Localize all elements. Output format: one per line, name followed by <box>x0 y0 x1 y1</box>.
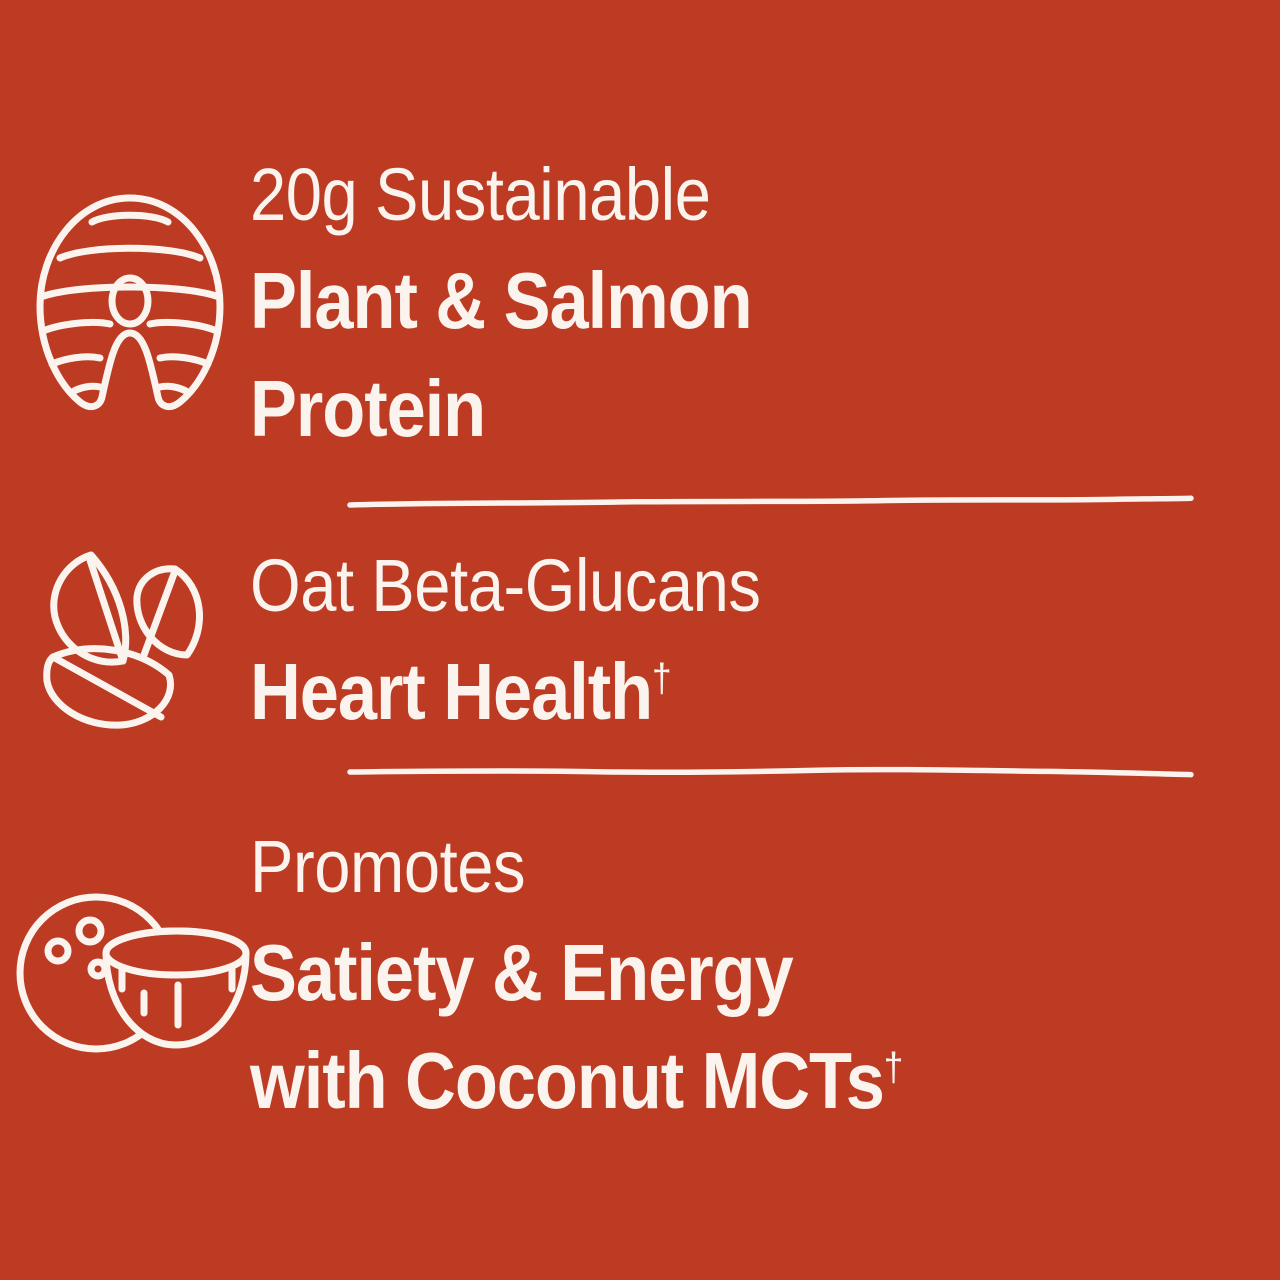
feature-bold-line-oat-1: Heart Health† <box>250 638 1156 746</box>
feature-light-line-protein: 20g Sustainable <box>250 143 1156 247</box>
feature-bold-line-mct-1: Satiety & Energy <box>250 919 1156 1027</box>
salmon-steak-icon <box>0 188 260 418</box>
coconut-icon <box>0 885 260 1065</box>
feature-text-protein: 20g Sustainable Plant & Salmon Protein <box>250 143 1280 463</box>
dagger-icon-oat: † <box>652 656 671 700</box>
feature-bold-line-mct-2: with Coconut MCTs† <box>250 1027 1156 1135</box>
dagger-icon-mct: † <box>884 1045 903 1089</box>
feature-bold-line-protein-1: Plant & Salmon <box>250 247 1156 355</box>
benefits-panel: 20g Sustainable Plant & Salmon Protein <box>0 0 1280 1280</box>
feature-light-line-oat: Oat Beta-Glucans <box>250 534 1156 638</box>
feature-text-oat: Oat Beta-Glucans Heart Health† <box>250 534 1280 746</box>
feature-text-mct: Promotes Satiety & Energy with Coconut M… <box>250 815 1280 1135</box>
feature-bold-text-oat: Heart Health <box>250 647 652 736</box>
feature-row-oat: Oat Beta-Glucans Heart Health† <box>0 545 1280 735</box>
feature-row-protein: 20g Sustainable Plant & Salmon Protein <box>0 138 1280 468</box>
divider-2 <box>348 765 1193 779</box>
divider-1 <box>348 495 1193 509</box>
feature-light-line-mct: Promotes <box>250 815 1156 919</box>
oat-grains-icon <box>0 545 260 735</box>
feature-bold-text-mct: with Coconut MCTs <box>250 1036 884 1125</box>
feature-row-mct: Promotes Satiety & Energy with Coconut M… <box>0 830 1280 1120</box>
feature-bold-line-protein-2: Protein <box>250 355 1156 463</box>
